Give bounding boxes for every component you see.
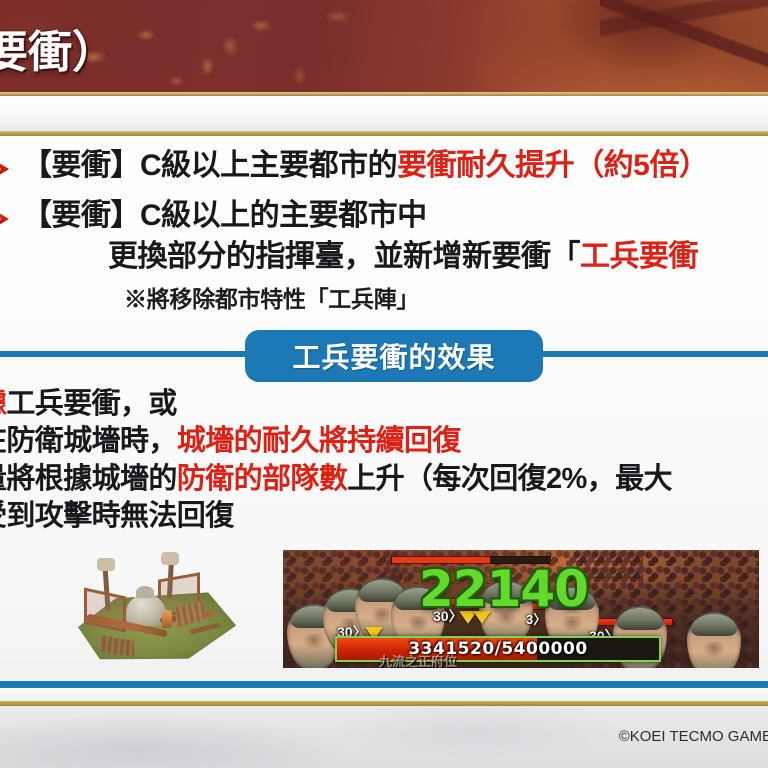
bullet-text-highlight: 要衝耐久提升（約5倍）	[397, 149, 708, 182]
bullet-text: 【要衝】C級以上主要都市的要衝耐久提升（約5倍）	[22, 148, 708, 185]
camp-soldier-figure	[162, 610, 172, 628]
bullet-list: 【要衝】C級以上主要都市的要衝耐久提升（約5倍） 【要衝】C級以上的主要都市中 …	[0, 144, 768, 314]
section-header: 工兵要衝的效果	[0, 330, 768, 382]
battle-screenshot-image: 30〉 30〉 3〉 30〉 22140 3341520/5400000 九流之…	[283, 550, 759, 668]
effect-seg-plain-2: 上升（每次回復2%，最大	[347, 463, 672, 495]
effect-seg-highlight: 城墻的耐久將持續回復	[177, 425, 461, 457]
effect-line: 量將根據城墻的防衛的部隊數上升（每次回復2%，最大	[0, 461, 768, 498]
bullet-continuation-line: 更換部分的指揮臺，並新增新要衝「工兵要衝	[0, 238, 768, 276]
copyright-text: ©KOEI TECMO GAMES	[619, 728, 768, 745]
continuation-highlight: 工兵要衝	[580, 240, 698, 273]
effect-description-block: 據工兵要衝，或 在防衛城墻時，城墻的耐久將持續回復 量將根據城墻的防衛的部隊數上…	[0, 386, 768, 536]
footer-area: ©KOEI TECMO GAMES	[0, 706, 768, 768]
media-row: 30〉 30〉 3〉 30〉 22140 3341520/5400000 九流之…	[0, 548, 768, 670]
header-silhouette-decoration	[600, 0, 768, 86]
section-pill: 工兵要衝的效果	[245, 330, 543, 382]
bullet-text-plain: 【要衝】C級以上主要都市的	[22, 149, 397, 182]
effect-line: 在防衛城墻時，城墻的耐久將持續回復	[0, 423, 768, 460]
camp-lantern-right	[161, 552, 179, 565]
section-title: 工兵要衝的效果	[292, 336, 495, 376]
damage-number: 22140	[419, 560, 588, 618]
red-arrow-icon	[0, 152, 22, 186]
footer-gap-strip	[0, 688, 768, 701]
bullet-note: ※將移除都市特性「工兵陣」	[0, 280, 768, 314]
camp-tent-top	[136, 586, 154, 598]
engineer-siege-camp-image	[64, 552, 252, 668]
camp-lantern-left	[97, 558, 115, 571]
header-banner: 要衝）	[0, 0, 768, 92]
bullet-item: 【要衝】C級以上的主要都市中	[0, 198, 768, 236]
effect-line: 受到攻擊時無法回復	[0, 498, 768, 535]
effect-seg-plain: 受到攻擊時無法回復	[0, 500, 234, 532]
effect-seg-plain: 在防衛城墻時，	[0, 425, 177, 457]
effect-seg-plain: 工兵要衝，或	[6, 388, 176, 420]
officer-portrait	[687, 612, 741, 668]
slide-root: 要衝） 【要衝】C級以上主要都市的要衝耐久提升（約5	[0, 0, 768, 768]
header-glow-strip	[0, 96, 768, 132]
effect-seg-plain: 量將根據城墻的	[0, 463, 177, 495]
effect-seg-highlight: 防衛的部隊數	[177, 463, 347, 495]
gold-divider-line	[0, 131, 768, 136]
footer-blue-line	[0, 681, 768, 688]
bullet-text: 【要衝】C級以上的主要都市中	[22, 198, 427, 235]
continuation-plain: 更換部分的指揮臺，並新增新要衝「	[108, 240, 580, 273]
effect-line: 據工兵要衝，或	[0, 386, 768, 423]
red-arrow-icon	[0, 202, 22, 236]
bullet-item: 【要衝】C級以上主要都市的要衝耐久提升（約5倍）	[0, 148, 768, 186]
wall-name-label: 九流之正府位	[379, 651, 457, 668]
page-title: 要衝）	[0, 16, 116, 80]
